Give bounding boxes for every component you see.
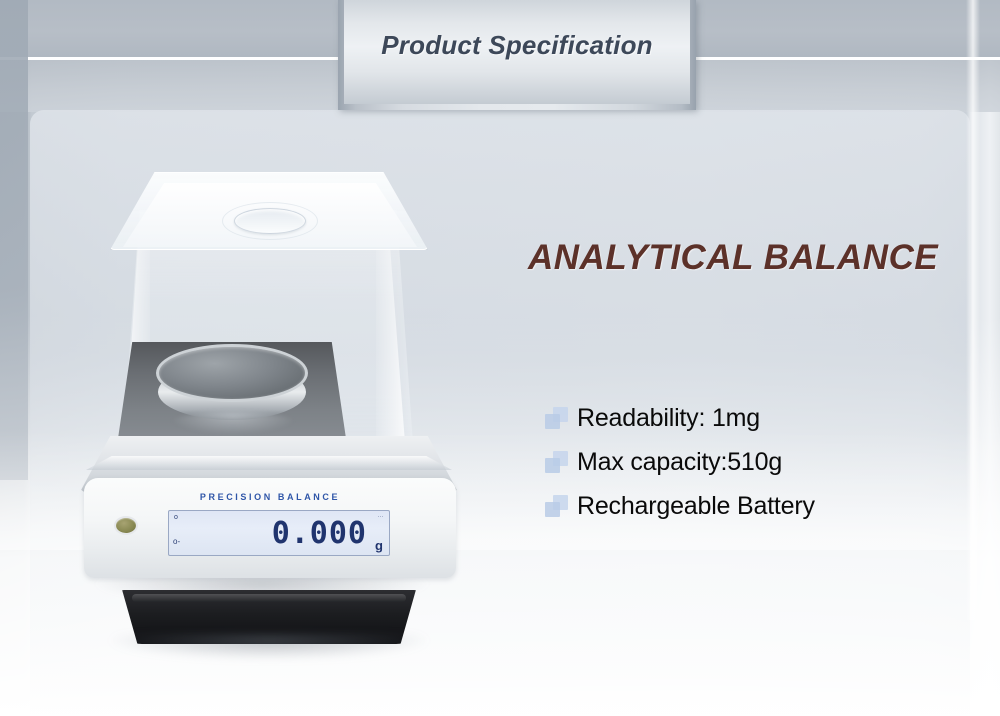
list-item: Rechargeable Battery [543,484,963,528]
lcd-battery-indicator: ... [377,513,384,519]
analytical-balance-product-image: PRECISION BALANCE o o- ... 0.000 g CAL [70,160,470,660]
square-bullet-icon [543,405,577,431]
weighing-pan [156,342,308,434]
product-name-heading: ANALYTICAL BALANCE [528,238,938,278]
square-bullet-icon [543,449,577,475]
square-bullet-icon-bottom [545,458,560,473]
right-edge-highlight [966,0,980,620]
instrument-base-highlight [132,594,406,602]
specification-list: Readability: 1mg Max capacity:510g Recha… [543,396,963,528]
lcd-stable-indicator: o [174,514,178,521]
square-bullet-icon [543,493,577,519]
list-item: Max capacity:510g [543,440,963,484]
spec-readability: Readability: 1mg [577,404,760,433]
spirit-level-indicator [116,518,136,533]
weighing-pan-surface [156,344,308,402]
lcd-weight-value: 0.000 [272,516,367,551]
brand-label: PRECISION BALANCE [84,492,456,502]
instrument-housing-lip [86,456,452,470]
lcd-display: o o- ... 0.000 g [168,510,390,556]
instrument-base-shadow [110,634,428,660]
spec-battery: Rechargeable Battery [577,492,815,521]
page-title: Product Specification [338,30,696,61]
front-control-panel: PRECISION BALANCE o o- ... 0.000 g CAL [84,478,456,578]
list-item: Readability: 1mg [543,396,963,440]
weighing-pan-reflection [170,412,296,434]
square-bullet-icon-bottom [545,502,560,517]
lcd-unit-label: g [375,538,383,553]
spec-max-capacity: Max capacity:510g [577,448,782,477]
square-bullet-icon-bottom [545,414,560,429]
left-edge-shading [0,0,28,480]
product-specification-page: Product Specification PRECISION BALANCE [0,0,1000,716]
lid-knob [234,208,306,234]
lcd-mode-indicator: o- [173,537,180,546]
